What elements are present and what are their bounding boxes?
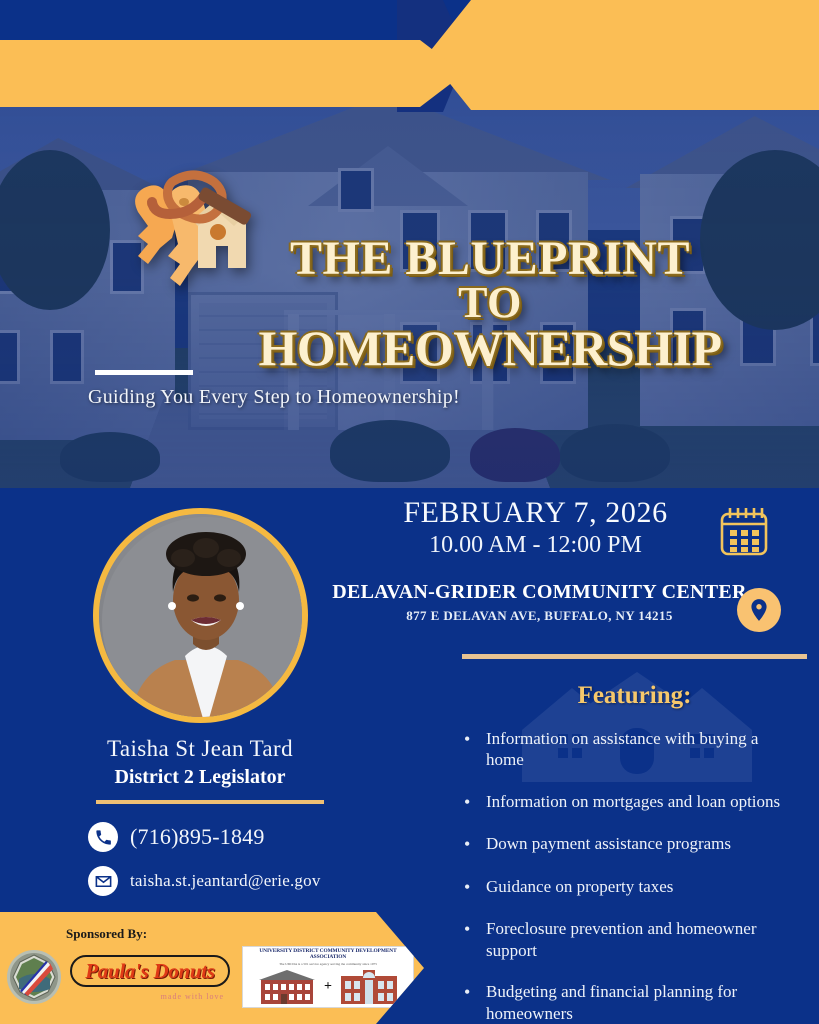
email-address: taisha.st.jeantard@erie.gov bbox=[130, 871, 321, 891]
phone-row[interactable]: (716)895-1849 bbox=[88, 822, 418, 852]
udcda-subtitle: The UDCDA is a 501 service agency servin… bbox=[246, 962, 410, 966]
speaker-name: Taisha St Jean Tard bbox=[0, 736, 400, 762]
list-item: •Down payment assistance programs bbox=[464, 833, 794, 856]
list-item: •Guidance on property taxes bbox=[464, 876, 794, 899]
bullet-icon: • bbox=[464, 876, 474, 899]
title-line-3: HOMEOWNERSHIP bbox=[250, 324, 730, 372]
sponsor-logos: Paula's Donuts made with love UNIVERSITY… bbox=[6, 946, 414, 1008]
featuring-divider bbox=[462, 654, 807, 659]
calendar-icon bbox=[717, 504, 771, 558]
udcda-logo: UNIVERSITY DISTRICT COMMUNITY DEVELOPMEN… bbox=[242, 946, 414, 1008]
erie-county-seal bbox=[6, 949, 62, 1005]
featuring-heading: Featuring: bbox=[462, 682, 807, 710]
top-right-gold-block bbox=[419, 0, 819, 110]
udcda-building-two bbox=[337, 968, 401, 1006]
speaker-portrait bbox=[93, 508, 308, 723]
list-item: •Information on assistance with buying a… bbox=[464, 728, 794, 771]
bullet-icon: • bbox=[464, 728, 474, 771]
speaker-title: District 2 Legislator bbox=[0, 766, 400, 789]
list-item: •Information on mortgages and loan optio… bbox=[464, 791, 794, 814]
hero-title-block: THE BLUEPRINT TO HOMEOWNERSHIP bbox=[250, 236, 730, 372]
list-item: •Budgeting and financial planning for ho… bbox=[464, 981, 794, 1024]
bullet-icon: • bbox=[464, 833, 474, 856]
featuring-list: •Information on assistance with buying a… bbox=[464, 728, 794, 1024]
sponsored-by-label: Sponsored By: bbox=[66, 926, 147, 942]
location-pin-icon bbox=[737, 588, 781, 632]
udcda-name: UNIVERSITY DISTRICT COMMUNITY DEVELOPMEN… bbox=[246, 949, 410, 961]
bullet-icon: • bbox=[464, 791, 474, 814]
house-keys-icon bbox=[108, 152, 268, 304]
list-item: •Foreclosure prevention and homeowner su… bbox=[464, 918, 794, 961]
title-line-2: TO bbox=[250, 282, 730, 324]
sponsors-footer: Sponsored By: Paula's Donuts made with l… bbox=[0, 912, 424, 1024]
phone-icon bbox=[88, 822, 118, 852]
tagline-divider bbox=[95, 370, 193, 375]
paulas-tagline: made with love bbox=[161, 992, 224, 1001]
plus-icon: + bbox=[324, 979, 332, 995]
paulas-donuts-logo: Paula's Donuts made with love bbox=[70, 955, 230, 999]
email-row[interactable]: taisha.st.jeantard@erie.gov bbox=[88, 866, 418, 896]
contact-block: (716)895-1849 taisha.st.jeantard@erie.go… bbox=[88, 822, 418, 910]
bullet-icon: • bbox=[464, 981, 474, 1024]
top-gold-arrow-band bbox=[0, 40, 464, 107]
hero-tagline: Guiding You Every Step to Homeownership! bbox=[88, 386, 508, 409]
envelope-icon bbox=[88, 866, 118, 896]
bullet-icon: • bbox=[464, 918, 474, 961]
udcda-building-one bbox=[255, 968, 319, 1006]
flyer-page: THE BLUEPRINT TO HOMEOWNERSHIP Guiding Y… bbox=[0, 0, 819, 1024]
title-line-1: THE BLUEPRINT bbox=[250, 236, 730, 282]
speaker-divider bbox=[96, 800, 324, 804]
phone-number: (716)895-1849 bbox=[130, 824, 265, 850]
event-info-column: FEBRUARY 7, 2026 10.00 AM - 12:00 PM DEL… bbox=[312, 496, 819, 624]
